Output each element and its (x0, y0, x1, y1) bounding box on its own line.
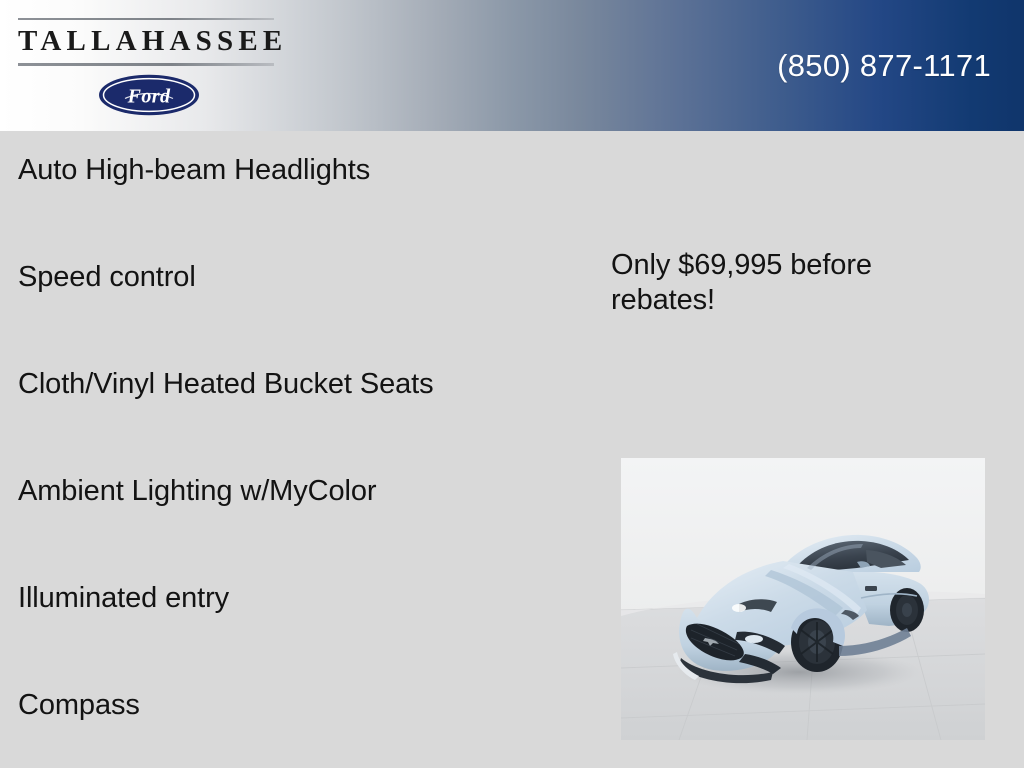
price-callout: Only $69,995 before rebates! (611, 248, 941, 318)
logo-rule-bottom (18, 63, 274, 66)
page-header: TALLAHASSEE Ford (850) 877-1171 (0, 0, 1024, 131)
list-item: Illuminated entry (18, 581, 593, 688)
list-item: Speed control (18, 260, 593, 367)
dealer-logo-block[interactable]: TALLAHASSEE (18, 18, 274, 66)
ford-oval-icon[interactable]: Ford (98, 74, 200, 116)
vehicle-feature-list: Auto High-beam Headlights Speed control … (18, 153, 593, 768)
dealer-name: TALLAHASSEE (18, 20, 274, 63)
list-item: Auto High-beam Headlights (18, 153, 593, 260)
list-item: Ambient Lighting w/MyColor (18, 474, 593, 581)
svg-text:Ford: Ford (127, 86, 171, 108)
vehicle-photo (621, 458, 985, 740)
dealer-phone-number[interactable]: (850) 877-1171 (777, 48, 991, 84)
slide-content: Auto High-beam Headlights Speed control … (0, 131, 1024, 768)
list-item: Compass (18, 688, 593, 768)
list-item: Cloth/Vinyl Heated Bucket Seats (18, 367, 593, 474)
